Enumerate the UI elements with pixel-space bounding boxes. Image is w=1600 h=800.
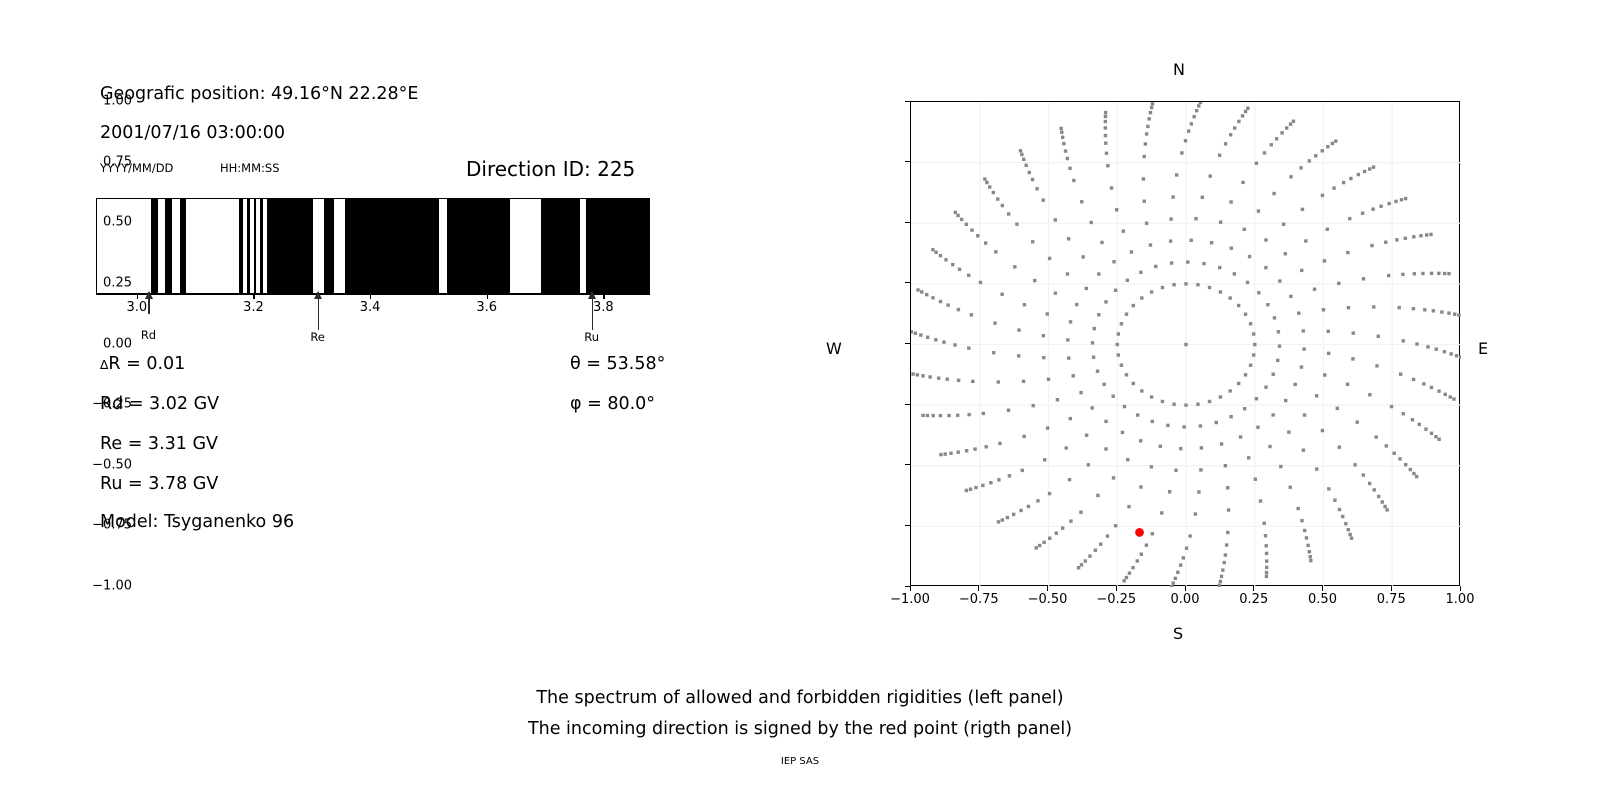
x-axis-tick	[1047, 586, 1048, 591]
spectrum-axis-line	[96, 294, 650, 295]
x-axis-tick	[1116, 586, 1117, 591]
x-axis-tick-label: −0.25	[1096, 592, 1136, 607]
marker-arrow-ru	[592, 292, 594, 330]
forbidden-band	[254, 199, 256, 293]
asymptotic-direction-plot	[910, 101, 1460, 586]
marker-arrow-re	[318, 292, 320, 330]
phi-value: φ = 80.0°	[570, 394, 655, 414]
datetime-text: 2001/07/16 03:00:00	[100, 123, 285, 143]
forbidden-band	[541, 199, 579, 293]
x-axis-tick	[978, 586, 979, 591]
x-axis-tick-label: −0.50	[1028, 592, 1068, 607]
y-axis-tick	[905, 464, 910, 465]
forbidden-band	[165, 199, 171, 293]
x-axis-tick-label: −0.75	[959, 592, 999, 607]
compass-label-south: S	[1173, 624, 1183, 643]
forbidden-band	[247, 199, 250, 293]
delta-R-text: R = 0.01	[108, 354, 185, 374]
y-axis-tick-label: 0.50	[103, 215, 132, 230]
Re-value: Re = 3.31 GV	[100, 434, 218, 454]
theta-value: θ = 53.58°	[570, 354, 665, 374]
y-axis-tick-label: 0.25	[103, 275, 132, 290]
x-axis-tick	[910, 586, 911, 591]
y-axis-tick-label: 0.00	[103, 336, 132, 351]
x-axis-tick	[1391, 586, 1392, 591]
polar-scatter-svg	[911, 102, 1461, 587]
spectrum-tick-label: 3.2	[243, 300, 264, 315]
plot-frame	[910, 101, 1460, 586]
marker-arrow-rd	[148, 292, 150, 314]
spectrum-tick-label: 3.6	[476, 300, 497, 315]
y-axis-tick-label: 0.75	[103, 154, 132, 169]
caption-line-2: The incoming direction is signed by the …	[0, 719, 1600, 739]
x-axis-tick-label: 0.00	[1171, 592, 1200, 607]
x-axis-tick-label: −1.00	[890, 592, 930, 607]
x-axis-tick-label: 0.25	[1239, 592, 1268, 607]
spectrum-tick	[603, 294, 604, 299]
incoming-direction-point	[1135, 528, 1144, 537]
footer-credit: IEP SAS	[0, 756, 1600, 767]
forbidden-band	[180, 199, 186, 293]
x-axis-tick	[1253, 586, 1254, 591]
x-axis-tick	[1460, 586, 1461, 591]
spectrum-tick-label: 3.4	[360, 300, 381, 315]
x-axis-tick	[1185, 586, 1186, 591]
compass-label-east: E	[1478, 339, 1488, 358]
forbidden-band	[151, 199, 158, 293]
forbidden-band	[260, 199, 263, 293]
y-axis-tick-label: −0.25	[92, 397, 132, 412]
forbidden-band	[447, 199, 510, 293]
y-axis-tick	[905, 101, 910, 102]
y-axis-tick	[905, 222, 910, 223]
y-axis-tick	[905, 343, 910, 344]
time-format-hint: HH:MM:SS	[220, 161, 280, 175]
y-axis-tick	[905, 282, 910, 283]
spectrum-tick	[370, 294, 371, 299]
geographic-position-text: Geografic position: 49.16°N 22.28°E	[100, 84, 418, 104]
forbidden-band	[267, 199, 312, 293]
spectrum-tick-label: 3.8	[593, 300, 614, 315]
spectrum-tick	[487, 294, 488, 299]
spectrum-tick	[137, 294, 138, 299]
spectrum-tick	[253, 294, 254, 299]
y-axis-tick-label: 1.00	[103, 94, 132, 109]
y-axis-tick	[905, 161, 910, 162]
x-axis-tick	[1322, 586, 1323, 591]
x-axis-tick-label: 0.75	[1377, 592, 1406, 607]
forbidden-band	[345, 199, 438, 293]
y-axis-tick	[905, 404, 910, 405]
marker-label-re: Re	[310, 330, 325, 344]
x-axis-tick-label: 0.50	[1308, 592, 1337, 607]
marker-label-ru: Ru	[584, 330, 599, 344]
direction-id-text: Direction ID: 225	[466, 157, 635, 181]
forbidden-band	[324, 199, 333, 293]
Ru-value: Ru = 3.78 GV	[100, 474, 218, 494]
y-axis-tick-label: −0.75	[92, 518, 132, 533]
delta-R-value: ∆R = 0.01	[100, 354, 185, 374]
forbidden-band	[239, 199, 242, 293]
forbidden-band	[586, 199, 650, 293]
marker-label-rd: Rd	[141, 328, 156, 342]
x-axis-tick-label: 1.00	[1446, 592, 1475, 607]
y-axis-tick-label: −0.50	[92, 457, 132, 472]
compass-label-west: W	[826, 339, 842, 358]
y-axis-tick	[905, 525, 910, 526]
spectrum-tick-label: 3.0	[126, 300, 147, 315]
y-axis-tick-label: −1.00	[92, 579, 132, 594]
caption-line-1: The spectrum of allowed and forbidden ri…	[0, 688, 1600, 708]
compass-label-north: N	[1173, 60, 1185, 79]
figure-canvas: Geografic position: 49.16°N 22.28°E 2001…	[0, 0, 1600, 800]
rigidity-spectrum-bar	[96, 198, 650, 294]
